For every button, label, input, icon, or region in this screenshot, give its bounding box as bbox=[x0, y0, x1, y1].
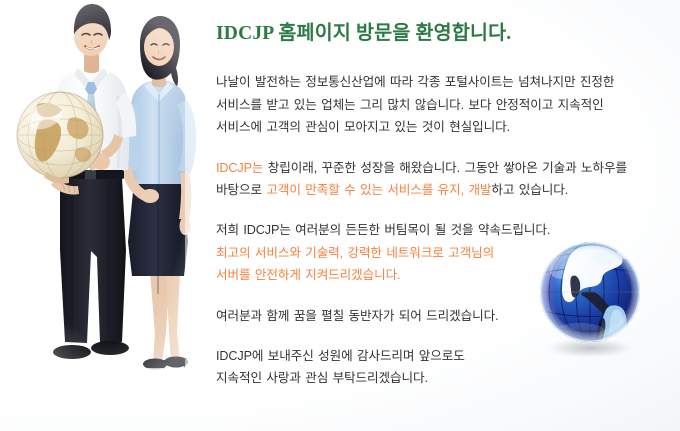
highlight-text: IDCJP는 bbox=[216, 161, 263, 175]
paragraph-partner: 여러분과 함께 꿈을 펼칠 동반자가 되어 드리겠습니다. bbox=[216, 305, 668, 327]
highlight-text: 서버를 안전하게 지켜드리겠습니다. bbox=[216, 268, 401, 282]
text-line: 서비스를 받고 있는 업체는 그리 많치 않습니다. 보다 안정적이고 지속적인 bbox=[216, 94, 668, 116]
text-line: IDCJP는 창립이래, 꾸준한 성장을 해왔습니다. 그동안 쌓아온 기술과 … bbox=[216, 157, 668, 179]
page-title: IDCJP 홈페이지 방문을 환영합니다. bbox=[216, 22, 668, 45]
text-line: 여러분과 함께 꿈을 펼칠 동반자가 되어 드리겠습니다. bbox=[216, 305, 668, 327]
paragraph-promise: 저희 IDCJP는 여러분의 든든한 버팀목이 될 것을 약속드립니다. 최고의… bbox=[216, 219, 668, 286]
text-line: IDCJP에 보내주신 성원에 감사드리며 앞으로도 bbox=[216, 345, 668, 367]
text-line: 서버를 안전하게 지켜드리겠습니다. bbox=[216, 264, 668, 286]
welcome-text-block: IDCJP 홈페이지 방문을 환영합니다. 나날이 발전하는 정보통신산업에 따… bbox=[216, 22, 668, 390]
text-line: 바탕으로 고객이 만족할 수 있는 서비스를 유지, 개발하고 있습니다. bbox=[216, 179, 668, 201]
paragraph-thanks: IDCJP에 보내주신 성원에 감사드리며 앞으로도 지속적인 사랑과 관심 부… bbox=[216, 345, 668, 390]
text-line: 서비스에 고객의 관심이 모아지고 있는 것이 현실입니다. bbox=[216, 116, 668, 138]
text-line: 나날이 발전하는 정보통신산업에 따라 각종 포털사이트는 넘쳐나지만 진정한 bbox=[216, 71, 668, 93]
highlight-text: 최고의 서비스와 기술력, 강력한 네트워크로 고객님의 bbox=[216, 246, 494, 260]
text-line: 지속적인 사랑과 관심 부탁드리겠습니다. bbox=[216, 367, 668, 389]
paragraph-intro: 나날이 발전하는 정보통신산업에 따라 각종 포털사이트는 넘쳐나지만 진정한 … bbox=[216, 71, 668, 138]
text-line: 최고의 서비스와 기술력, 강력한 네트워크로 고객님의 bbox=[216, 242, 668, 264]
page-root: IDCJP 홈페이지 방문을 환영합니다. 나날이 발전하는 정보통신산업에 따… bbox=[0, 0, 680, 431]
text-line: 저희 IDCJP는 여러분의 든든한 버팀목이 될 것을 약속드립니다. bbox=[216, 219, 668, 241]
business-people-photo bbox=[0, 0, 215, 400]
paragraph-growth: IDCJP는 창립이래, 꾸준한 성장을 해왔습니다. 그동안 쌓아온 기술과 … bbox=[216, 157, 668, 202]
highlight-text: 고객이 만족할 수 있는 서비스를 유지, 개발 bbox=[266, 183, 491, 197]
